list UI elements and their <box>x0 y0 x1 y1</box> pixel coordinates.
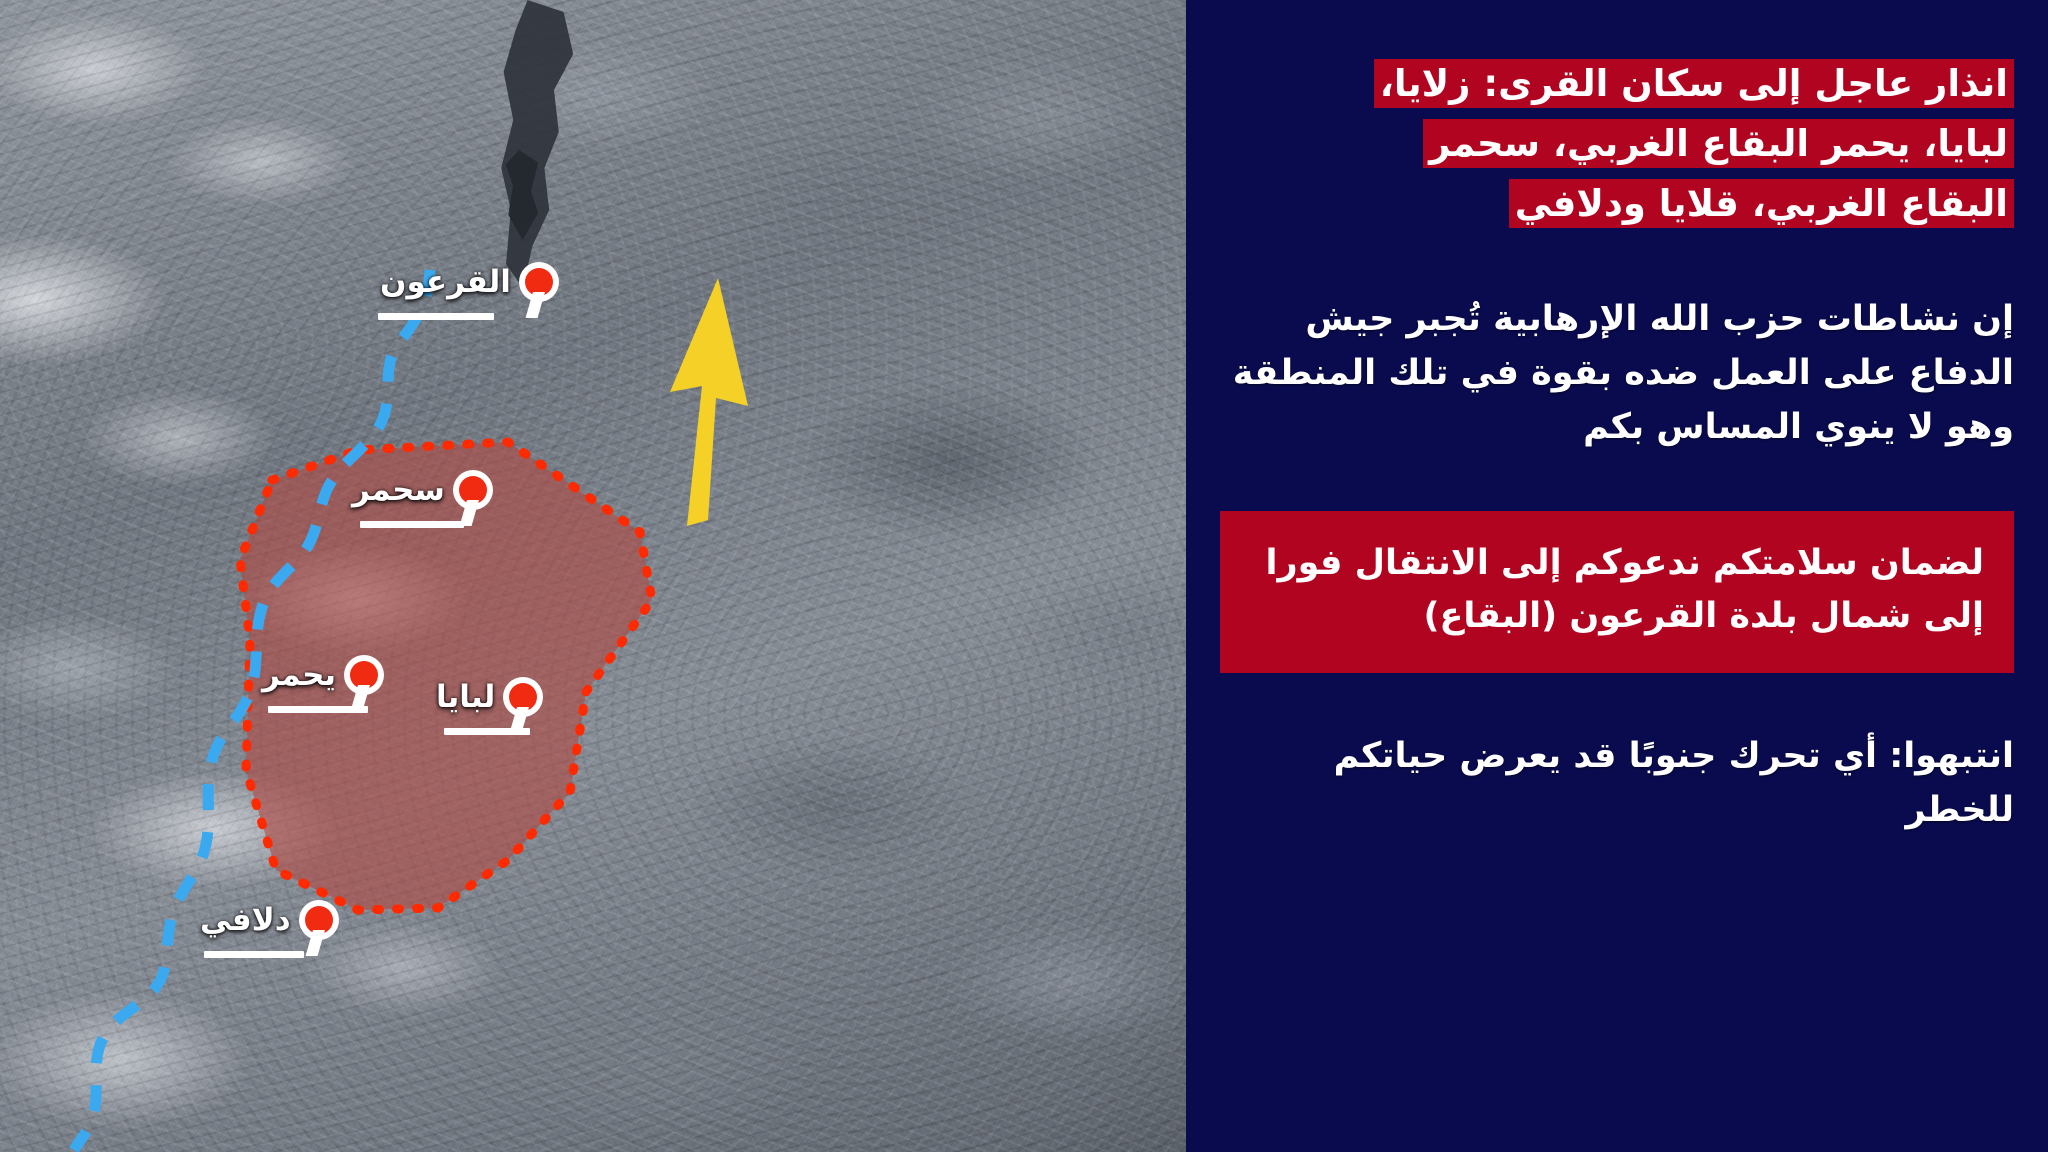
alert-panel: انذار عاجل إلى سكان القرى: زلايا، لبايا،… <box>1186 0 2048 1152</box>
arrow-shape <box>670 278 748 526</box>
map-label-text: دلافي <box>200 902 291 938</box>
map-label-text: يحمر <box>262 657 336 693</box>
map-label-dalafi[interactable]: دلافي <box>200 900 339 940</box>
label-underline <box>378 313 494 320</box>
evacuation-direction-arrow <box>630 270 760 530</box>
map-label-yohmor[interactable]: يحمر <box>262 655 384 695</box>
map-label-qaraoun[interactable]: القرعون <box>380 262 559 302</box>
map-label-libbaya[interactable]: لبايا <box>436 677 543 717</box>
map-label-sohmor[interactable]: سحمر <box>352 470 493 510</box>
map-label-text: القرعون <box>380 264 511 300</box>
label-underline <box>204 951 304 958</box>
label-underline <box>360 521 464 528</box>
label-underline <box>444 728 530 735</box>
map-label-text: لبايا <box>436 679 495 715</box>
border-path <box>74 270 430 1150</box>
map-pin-icon <box>299 900 339 940</box>
headline-line-3: البقاع الغربي، قلايا ودلافي <box>1509 179 2014 228</box>
map-pin-icon <box>344 655 384 695</box>
satellite-map[interactable]: القرعون سحمر يحمر لبايا <box>0 0 1186 1152</box>
label-underline <box>268 706 368 713</box>
map-label-text: سحمر <box>352 472 445 508</box>
map-pin-icon <box>519 262 559 302</box>
alert-body-paragraph: إن نشاطات حزب الله الإرهابية تُجبر جيش ا… <box>1220 292 2014 455</box>
call-to-action-box: لضمان سلامتكم ندعوكم إلى الانتقال فورا إ… <box>1220 511 2014 673</box>
alert-headline: انذار عاجل إلى سكان القرى: زلايا، لبايا،… <box>1220 54 2014 234</box>
headline-line-1: انذار عاجل إلى سكان القرى: زلايا، <box>1374 59 2014 108</box>
screenshot-root: القرعون سحمر يحمر لبايا <box>0 0 2048 1152</box>
map-pin-icon <box>453 470 493 510</box>
headline-line-2: لبايا، يحمر البقاع الغربي، سحمر <box>1423 119 2014 168</box>
map-pin-icon <box>503 677 543 717</box>
alert-footer-warning: انتبهوا: أي تحرك جنوبًا قد يعرض حياتكم ل… <box>1220 729 2014 838</box>
